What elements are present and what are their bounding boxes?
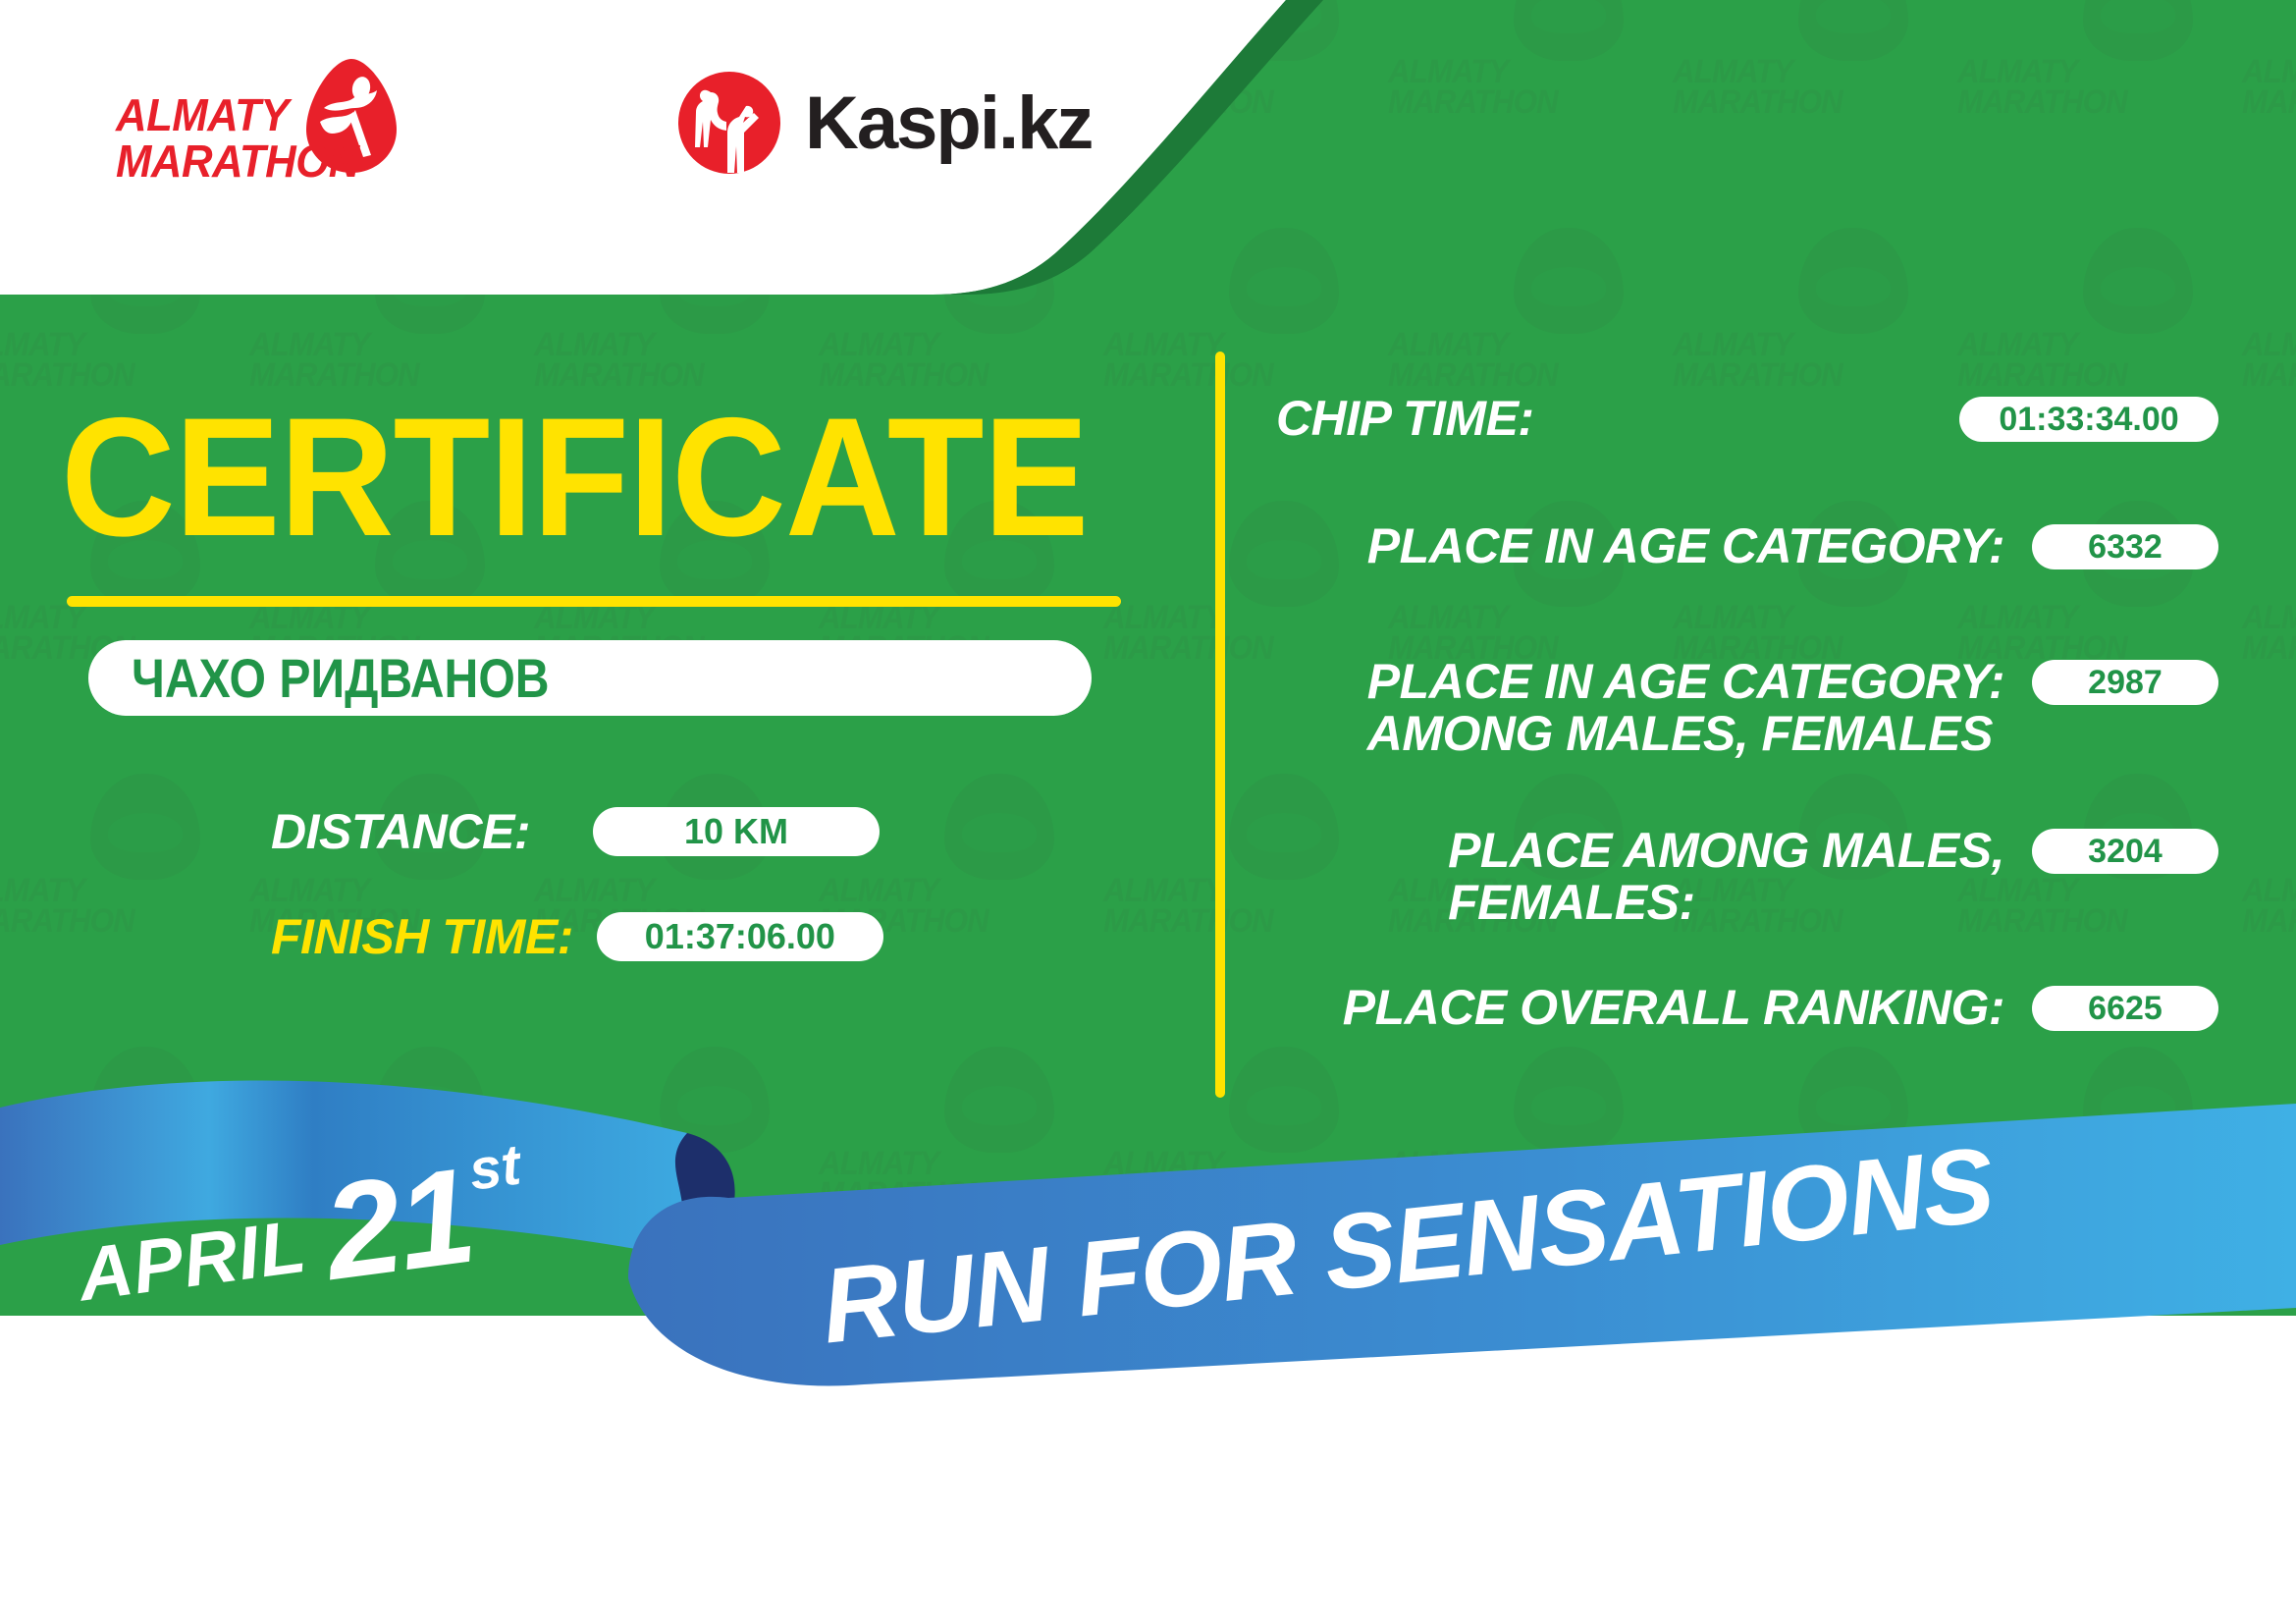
result-value: 3204	[2032, 829, 2218, 874]
watermark-tile: ALMATYMARATHON	[1669, 214, 1953, 487]
watermark-tile: ALMATYMARATHON	[245, 760, 530, 1033]
top-logo-bar: ALMATY MARATHON Kaspi.kz	[0, 0, 1178, 265]
watermark-drop-icon	[1798, 0, 1908, 61]
watermark-text: ALMATYMARATHON	[1103, 330, 1273, 392]
watermark-tile: ALMATYMARATHON	[1953, 0, 2238, 214]
sponsor-bar: Sulpak SANOFI Empowering Life ORIFLAME S…	[0, 1414, 2296, 1624]
watermark-text: ALMATYMARATHON	[1103, 876, 1273, 938]
watermark-text: ALMATYMARATHON	[2242, 57, 2296, 119]
page-title: CERTIFICATE	[61, 393, 1089, 562]
watermark-drop-icon	[1514, 228, 1624, 334]
finish-time-label: FINISH TIME:	[271, 908, 573, 965]
watermark-text: ALMATYMARATHON	[1103, 603, 1273, 665]
kaspi-people-circle-icon	[677, 71, 781, 175]
watermark-tile: ALMATYMARATHON	[530, 760, 815, 1033]
watermark-tile: ALMATYMARATHON	[0, 760, 245, 1033]
watermark-tile: ALMATYMARATHON	[815, 760, 1099, 1033]
result-row-place-age-category-gender: PLACE IN AGE CATEGORY: AMONG MALES, FEMA…	[1276, 656, 2218, 760]
watermark-drop-icon	[944, 774, 1054, 880]
watermark-text: ALMATYMARATHON	[1957, 57, 2127, 119]
result-label: PLACE OVERALL RANKING:	[1343, 982, 2004, 1034]
watermark-text: ALMATYMARATHON	[1388, 330, 1558, 392]
result-value: 01:33:34.00	[1959, 397, 2218, 442]
watermark-drop-icon	[2083, 228, 2193, 334]
result-label: PLACE IN AGE CATEGORY:	[1367, 520, 2004, 572]
watermark-tile: ALMATYMARATHON	[1669, 0, 1953, 214]
result-label: PLACE AMONG MALES, FEMALES:	[1448, 825, 2004, 929]
watermark-text: ALMATYMARATHON	[2242, 603, 2296, 665]
finish-time-value: 01:37:06.00	[597, 912, 883, 961]
watermark-tile: ALMATYMARATHON	[2238, 760, 2296, 1033]
distance-label: DISTANCE:	[271, 803, 530, 860]
watermark-drop-icon	[2083, 0, 2193, 61]
brand-line-2: MARATHON	[116, 135, 359, 187]
watermark-text: ALMATYMARATHON	[0, 876, 134, 938]
almaty-marathon-logo: ALMATY MARATHON	[116, 47, 430, 204]
event-day: 21	[318, 1158, 479, 1291]
distance-row: DISTANCE: 10 KM	[271, 803, 880, 860]
kaspi-logo: Kaspi.kz	[677, 71, 1092, 175]
event-day-suffix: st	[465, 1132, 524, 1204]
kaspi-wordmark: Kaspi.kz	[805, 81, 1092, 166]
almaty-marathon-wordmark: ALMATY MARATHON	[116, 92, 359, 185]
result-row-overall-ranking: PLACE OVERALL RANKING: 6625	[1276, 982, 2218, 1034]
result-label: PLACE IN AGE CATEGORY: AMONG MALES, FEMA…	[1367, 656, 2004, 760]
column-divider	[1215, 352, 1225, 1098]
result-row-chip-time: CHIP TIME: 01:33:34.00	[1276, 393, 2218, 445]
certificate-page: ALMATYMARATHONALMATYMARATHONALMATYMARATH…	[0, 0, 2296, 1624]
watermark-tile: ALMATYMARATHON	[2238, 0, 2296, 214]
finish-time-row: FINISH TIME: 01:37:06.00	[271, 908, 883, 965]
watermark-drop-icon	[90, 774, 200, 880]
result-label: CHIP TIME:	[1276, 393, 1665, 445]
result-row-place-among-gender: PLACE AMONG MALES, FEMALES: 3204	[1276, 825, 2218, 929]
watermark-drop-icon	[1798, 228, 1908, 334]
watermark-text: ALMATYMARATHON	[1957, 330, 2127, 392]
watermark-drop-icon	[1514, 0, 1624, 61]
result-value: 6625	[2032, 986, 2218, 1031]
participant-name: ЧАХО РИДВАНОВ	[132, 646, 550, 710]
participant-name-field: ЧАХО РИДВАНОВ	[88, 640, 1092, 716]
distance-value: 10 KM	[593, 807, 880, 856]
watermark-tile: ALMATYMARATHON	[2238, 214, 2296, 487]
result-value: 2987	[2032, 660, 2218, 705]
result-value: 6332	[2032, 524, 2218, 569]
title-underline	[67, 596, 1121, 607]
brand-line-1: ALMATY	[116, 89, 289, 140]
result-row-place-age-category: PLACE IN AGE CATEGORY: 6332	[1276, 520, 2218, 572]
watermark-text: ALMATYMARATHON	[2242, 330, 2296, 392]
watermark-tile: ALMATYMARATHON	[1953, 214, 2238, 487]
watermark-tile: ALMATYMARATHON	[2238, 487, 2296, 760]
watermark-text: ALMATYMARATHON	[1673, 330, 1842, 392]
watermark-text: ALMATYMARATHON	[1673, 57, 1842, 119]
watermark-text: ALMATYMARATHON	[2242, 876, 2296, 938]
